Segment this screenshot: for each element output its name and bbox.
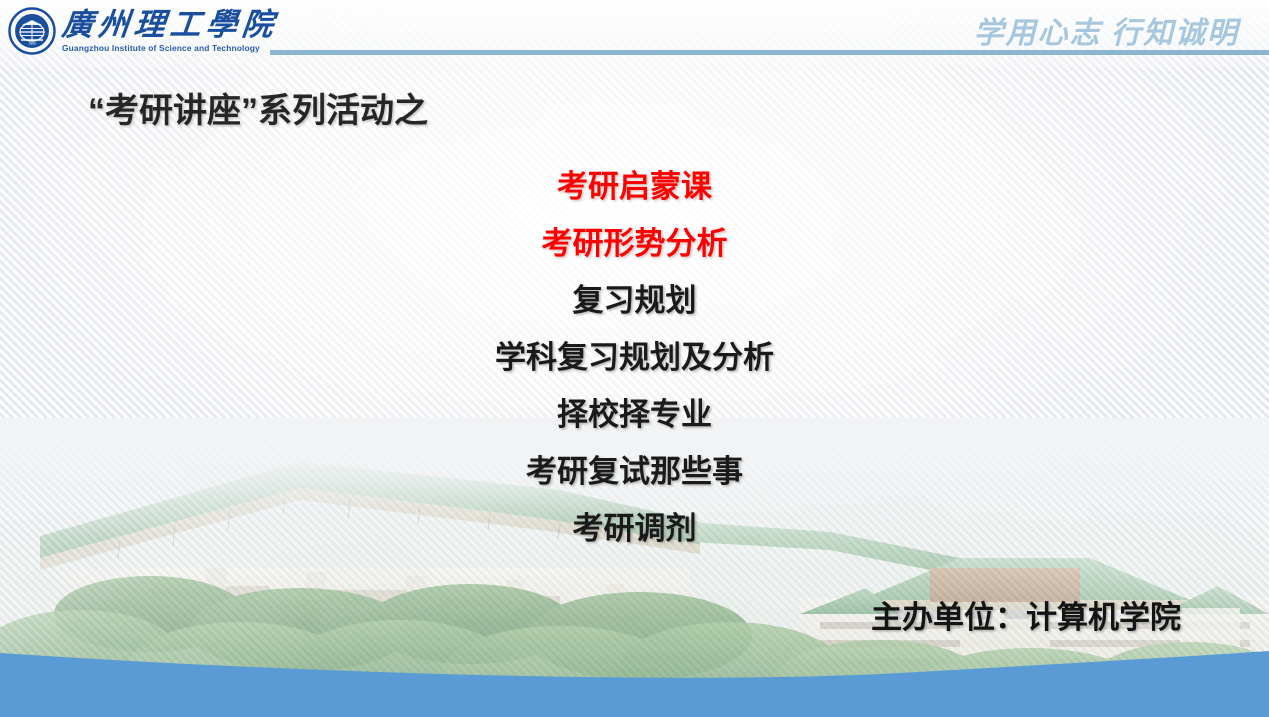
slide-content: “考研讲座”系列活动之 考研启蒙课 考研形势分析 复习规划 学科复习规划及分析 … <box>0 0 1269 717</box>
list-item: 学科复习规划及分析 <box>0 329 1269 386</box>
topic-list: 考研启蒙课 考研形势分析 复习规划 学科复习规划及分析 择校择专业 考研复试那些… <box>0 158 1269 557</box>
list-item: 复习规划 <box>0 272 1269 329</box>
list-item: 考研复试那些事 <box>0 443 1269 500</box>
bottom-accent-bar <box>0 627 1269 717</box>
list-item: 考研调剂 <box>0 500 1269 557</box>
list-item: 考研启蒙课 <box>0 158 1269 215</box>
page-title: “考研讲座”系列活动之 <box>88 83 428 132</box>
list-item: 考研形势分析 <box>0 215 1269 272</box>
list-item: 择校择专业 <box>0 386 1269 443</box>
presentation-slide: 1999 廣州理工學院 Guangzhou Institute of Scien… <box>0 0 1269 717</box>
